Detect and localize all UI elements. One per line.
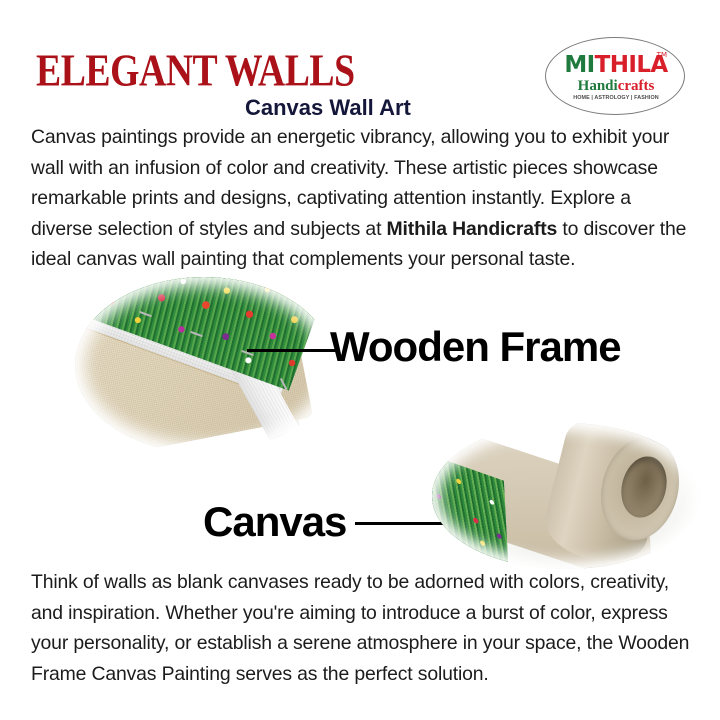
mithila-logo: MITHILA TM Handicrafts HOME | ASTROLOGY …: [545, 37, 685, 115]
logo-tagline: HOME | ASTROLOGY | FASHION: [546, 95, 686, 101]
logo-wordmark-green: MI: [564, 52, 594, 78]
page-title: ELEGANT WALLS: [36, 45, 355, 94]
wooden-frame-callout-label: Wooden Frame: [330, 325, 510, 368]
wooden-frame-leader-line: [247, 349, 339, 352]
closing-paragraph: Think of walls as blank canvases ready t…: [31, 567, 701, 689]
trademark-icon: TM: [657, 52, 667, 59]
canvas-roll-photo: [432, 423, 700, 569]
brand-mention: Mithila Handicrafts: [387, 218, 558, 240]
wooden-frame-photo: [75, 277, 333, 453]
page-subtitle: Canvas Wall Art: [245, 96, 411, 120]
header: ELEGANT WALLS Canvas Wall Art MITHILA TM…: [0, 0, 720, 120]
intro-paragraph: Canvas paintings provide an energetic vi…: [31, 122, 695, 275]
logo-subwordmark-green: Handi: [578, 78, 618, 94]
canvas-callout-label: Canvas: [203, 500, 346, 543]
logo-subwordmark-red: crafts: [618, 78, 655, 94]
infographic-page: ELEGANT WALLS Canvas Wall Art MITHILA TM…: [0, 0, 720, 720]
logo-subwordmark: Handicrafts: [546, 78, 686, 94]
